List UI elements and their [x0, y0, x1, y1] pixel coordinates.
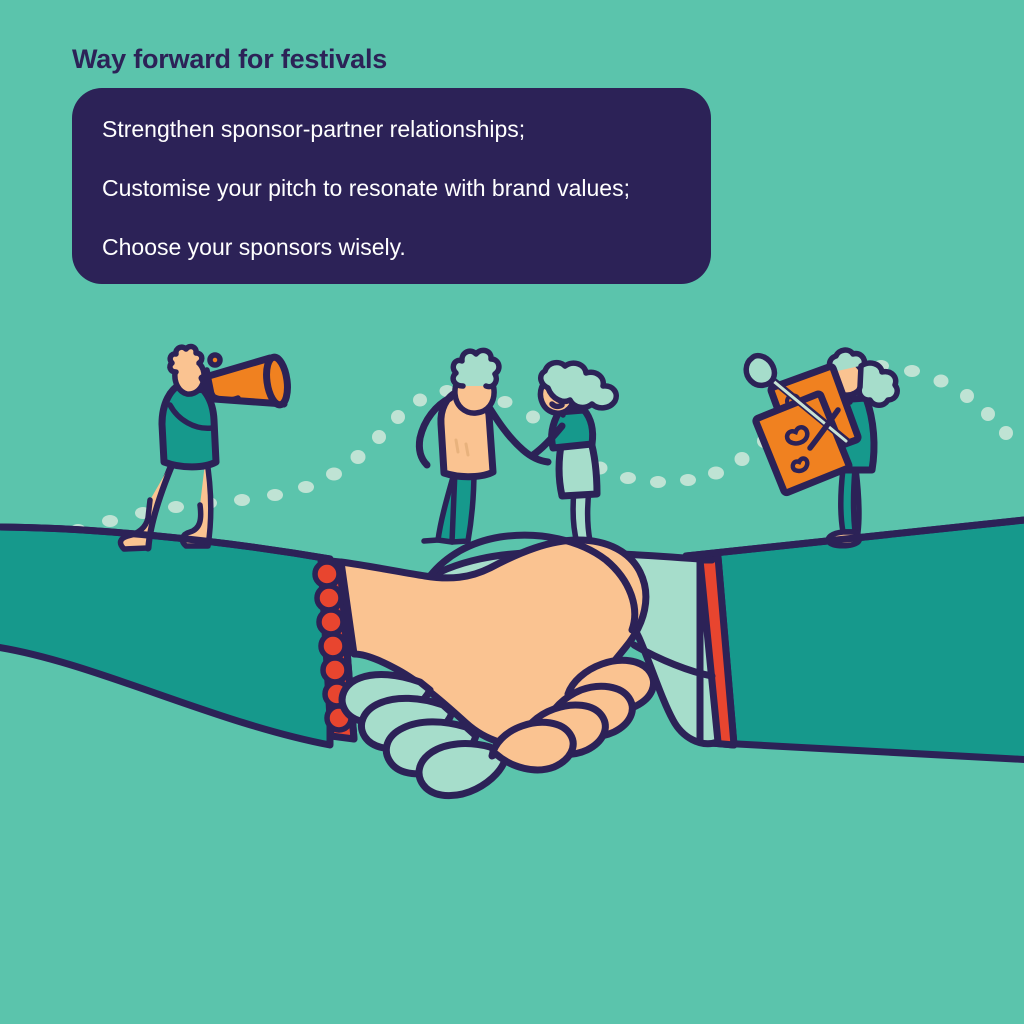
- text-overlay: Way forward for festivals Strengthen spo…: [0, 0, 1024, 1024]
- callout-line-2: Customise your pitch to resonate with br…: [102, 173, 677, 203]
- callout-line-3: Choose your sponsors wisely.: [102, 232, 677, 262]
- key-takeaways-callout: Strengthen sponsor-partner relationships…: [72, 88, 711, 284]
- page-title: Way forward for festivals: [72, 44, 387, 75]
- poster-canvas: .ol { fill:none; stroke:#2c2257; stroke-…: [0, 0, 1024, 1024]
- callout-line-1: Strengthen sponsor-partner relationships…: [102, 114, 677, 144]
